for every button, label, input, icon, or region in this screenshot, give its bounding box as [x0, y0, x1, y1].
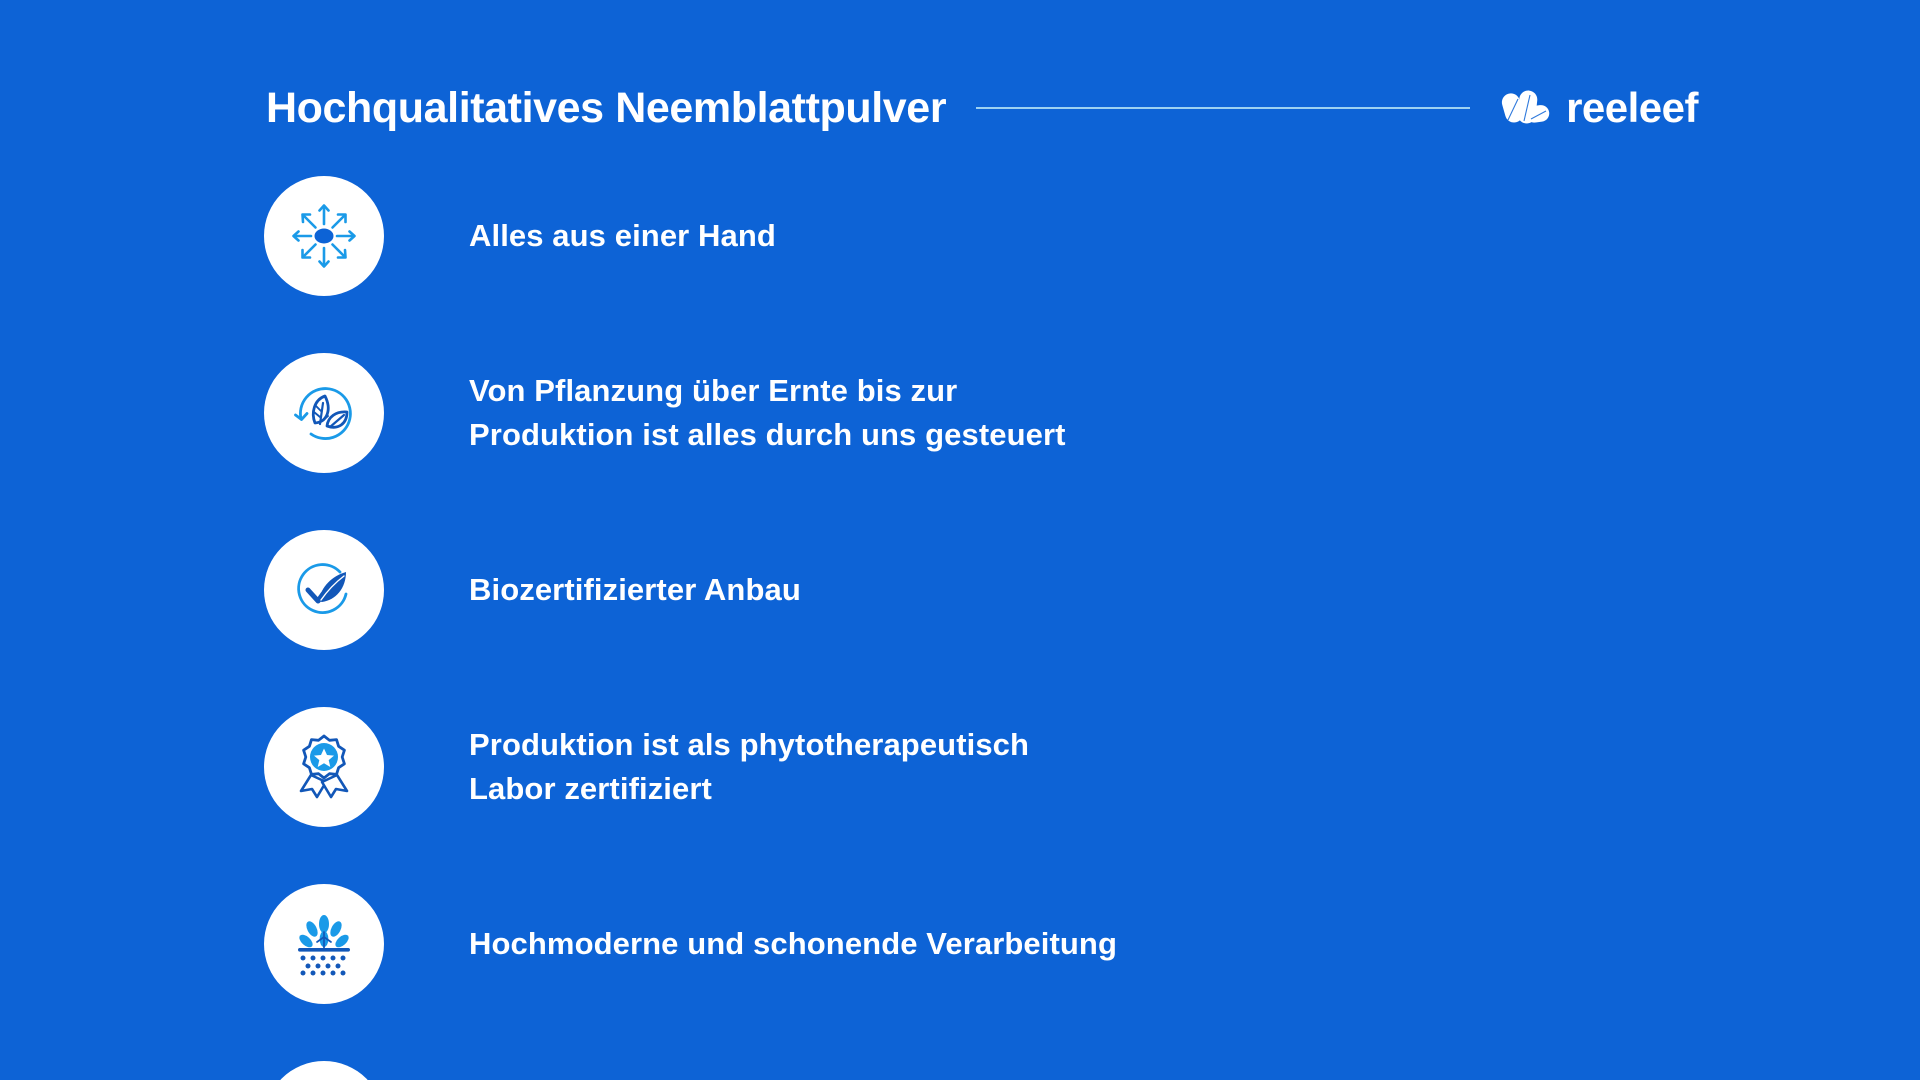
leaf-cycle-icon	[264, 353, 384, 473]
list-item: Produktion ist als phytotherapeutisch La…	[264, 707, 1684, 827]
brand-logo: reeleef	[1500, 87, 1698, 129]
label-line: Von Pflanzung über Ernte bis zur	[469, 369, 1066, 413]
list-item: Biozertifizierter Anbau	[264, 530, 1684, 650]
list-item: Alles aus einer Hand	[264, 176, 1684, 296]
list-item-label: Produktion ist als phytotherapeutisch La…	[469, 723, 1029, 811]
list-item-label: Hochmoderne und schonende Verarbeitung	[469, 922, 1117, 966]
label-line: Hochmoderne und schonende Verarbeitung	[469, 922, 1117, 966]
label-line: Alles aus einer Hand	[469, 214, 776, 258]
page-title: Hochqualitatives Neemblattpulver	[266, 87, 946, 130]
radiating-arrows-icon	[264, 176, 384, 296]
list-item-label: Alles aus einer Hand	[469, 214, 776, 258]
list-item-label: Biozertifizierter Anbau	[469, 568, 801, 612]
leaf-cluster-logo-mark-icon	[1500, 89, 1552, 131]
list-item: Jede Charge wird in Deutschland von eine…	[264, 1061, 1684, 1080]
list-item: Von Pflanzung über Ernte bis zur Produkt…	[264, 353, 1684, 473]
list-item: Hochmoderne und schonende Verarbeitung	[264, 884, 1684, 1004]
leaves-powder-icon	[264, 884, 384, 1004]
label-line: Produktion ist als phytotherapeutisch	[469, 723, 1029, 767]
leaf-check-circle-icon	[264, 530, 384, 650]
label-line: Biozertifizierter Anbau	[469, 568, 801, 612]
label-line: Labor zertifiziert	[469, 767, 1029, 811]
infographic-page: Hochqualitatives Neemblattpulver	[0, 0, 1920, 1080]
check-circle-icon	[264, 1061, 384, 1080]
feature-list: Alles aus einer Hand Von Pflanzung über …	[264, 176, 1684, 1080]
award-ribbon-icon	[264, 707, 384, 827]
label-line: Produktion ist alles durch uns gesteuert	[469, 413, 1066, 457]
header-divider-rule	[976, 107, 1470, 109]
list-item-label: Von Pflanzung über Ernte bis zur Produkt…	[469, 369, 1066, 457]
page-header: Hochqualitatives Neemblattpulver	[266, 78, 1698, 138]
brand-wordmark: reeleef	[1566, 87, 1698, 129]
